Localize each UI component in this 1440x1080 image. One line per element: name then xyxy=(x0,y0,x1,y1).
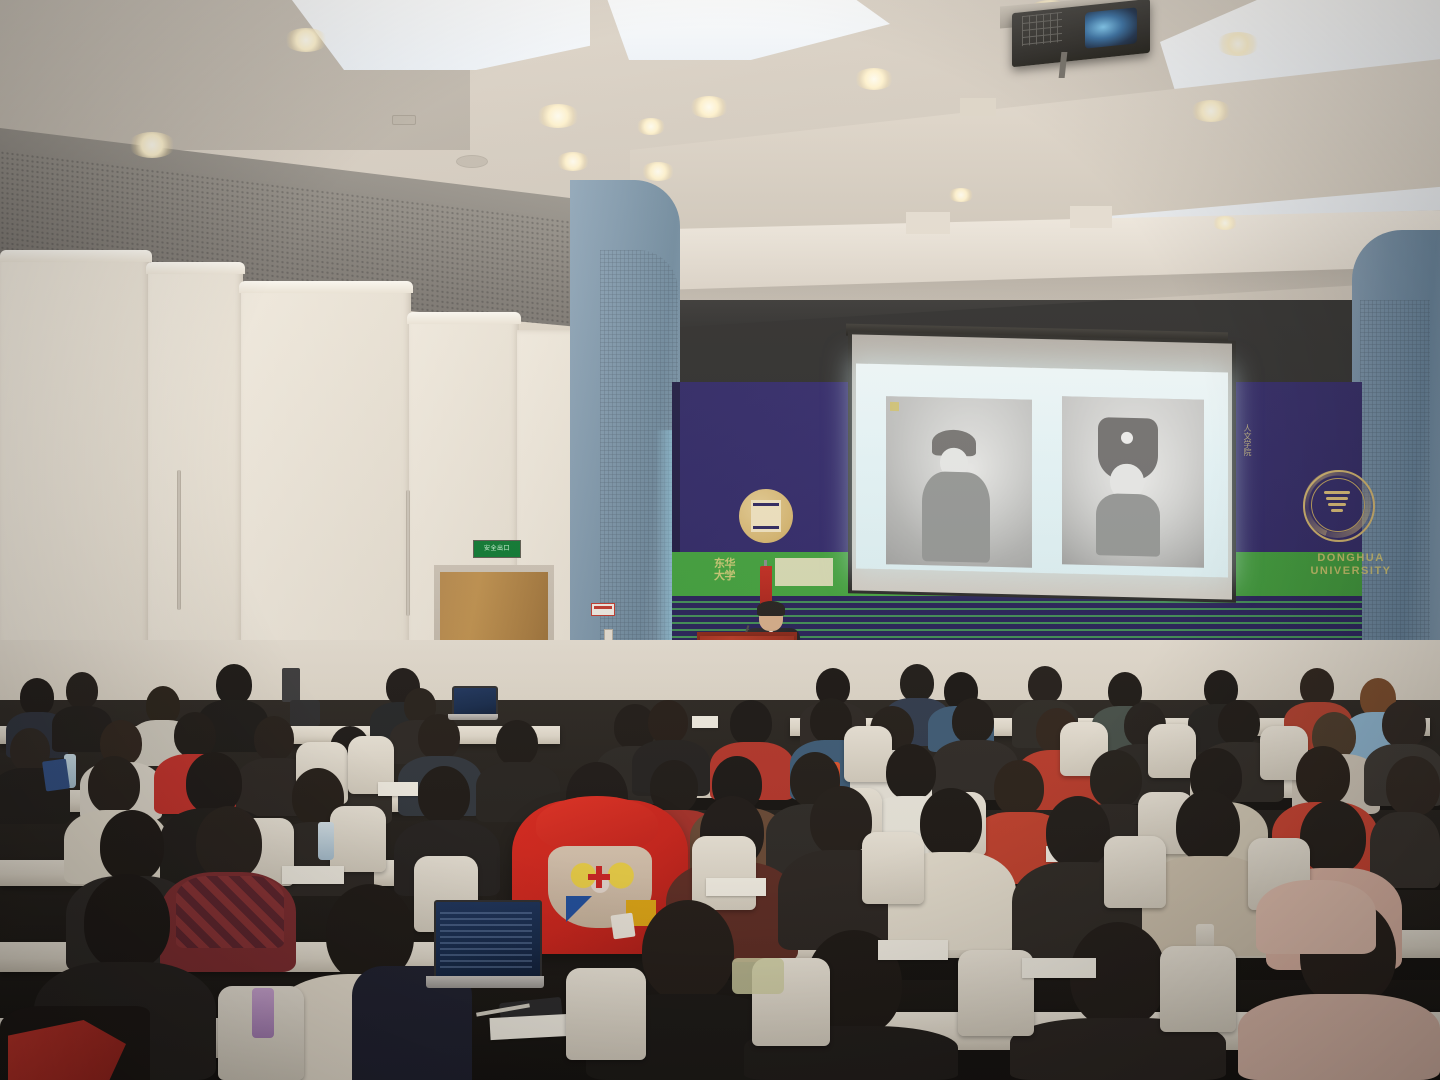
ceiling-vent xyxy=(456,155,488,168)
downlight xyxy=(1190,100,1232,122)
audience-head xyxy=(1386,756,1440,816)
university-name: DONGHUA UNIVERSITY xyxy=(1295,552,1407,578)
audience-head xyxy=(642,900,734,1002)
slide-corner-marker xyxy=(890,402,899,411)
chair xyxy=(692,836,756,910)
audience-head xyxy=(196,806,262,880)
panel-top-edge xyxy=(407,312,521,324)
chair xyxy=(566,968,646,1060)
bag xyxy=(290,700,320,726)
slide-photo-right xyxy=(1062,396,1204,567)
water-bottle xyxy=(318,822,334,860)
wall-notice-sign xyxy=(591,603,615,616)
ceiling-speaker-box xyxy=(1070,206,1112,228)
slide-figure-body xyxy=(1096,493,1160,557)
audience-head xyxy=(100,810,164,882)
notebook xyxy=(1022,958,1096,978)
slide-figure-hat-badge xyxy=(1121,432,1133,444)
panel-top-edge xyxy=(0,250,152,262)
chair xyxy=(1160,946,1236,1032)
downlight xyxy=(948,188,974,202)
audience-head xyxy=(900,664,934,702)
laptop-screen-text xyxy=(440,908,532,970)
audience-head xyxy=(1046,796,1110,868)
chair xyxy=(1104,836,1166,908)
ceiling-speaker-box xyxy=(906,212,950,234)
bag xyxy=(282,668,300,702)
panel-handle[interactable] xyxy=(177,470,181,610)
audience-head xyxy=(66,672,98,709)
audience-head xyxy=(648,700,688,744)
audience-head xyxy=(1028,666,1062,704)
downlight xyxy=(1216,32,1260,56)
paper-sheet xyxy=(692,716,718,728)
audience-head xyxy=(20,678,54,716)
bag xyxy=(732,958,784,994)
tablet-device[interactable] xyxy=(42,758,70,791)
downlight xyxy=(536,104,580,128)
audience-head xyxy=(886,744,936,800)
university-name-line-1: DONGHUA xyxy=(1295,552,1407,565)
audience-head xyxy=(952,698,994,744)
downlight xyxy=(636,118,666,135)
audience-head xyxy=(994,760,1044,816)
puffer-hood xyxy=(1256,880,1376,954)
exit-sign-label: 安全出口 xyxy=(484,546,510,552)
seal-stroke xyxy=(1326,497,1348,500)
projector-vent-grille xyxy=(1022,12,1062,46)
audience-head xyxy=(730,700,772,746)
downlight xyxy=(128,132,176,158)
emblem-bar xyxy=(753,526,779,529)
university-name-line-2: UNIVERSITY xyxy=(1295,565,1407,578)
seal-stroke xyxy=(1331,509,1343,512)
chair xyxy=(844,726,892,782)
downlight xyxy=(556,152,590,171)
exit-sign: 安全出口 xyxy=(473,540,521,558)
speaker-hair xyxy=(757,601,785,616)
downlight xyxy=(1212,216,1238,230)
downlight xyxy=(284,28,328,52)
panel-top-edge xyxy=(239,281,413,293)
plaid-pattern xyxy=(176,876,284,948)
downlight xyxy=(689,96,729,118)
seal-stroke xyxy=(1324,491,1350,494)
notebook xyxy=(878,940,948,960)
acoustic-wall-panel xyxy=(0,256,150,706)
audience-head xyxy=(1090,750,1142,808)
notebook xyxy=(706,878,766,896)
paper-sheet xyxy=(489,1014,570,1040)
ceiling-vent xyxy=(392,115,416,125)
chair xyxy=(862,832,924,904)
audience-head xyxy=(186,752,242,814)
laptop-keyboard[interactable] xyxy=(426,976,544,988)
notebook xyxy=(282,866,344,884)
lecture-hall-photo: 安全出口 东华 大学 DONGHUA UNIVERSITY 人文学院 xyxy=(0,0,1440,1080)
audience-head xyxy=(1382,700,1426,748)
downlight xyxy=(854,68,894,90)
seal-stroke xyxy=(1328,503,1346,506)
panel-handle[interactable] xyxy=(406,490,410,616)
audience-head xyxy=(174,712,216,758)
audience-head xyxy=(84,874,170,970)
audience-head xyxy=(1176,790,1240,862)
crest-cross-bar xyxy=(596,866,602,888)
downlight xyxy=(641,162,675,181)
audience-head xyxy=(418,766,470,824)
audience-head xyxy=(1296,746,1350,806)
audience-head xyxy=(1218,700,1260,746)
audience-head xyxy=(216,664,252,705)
slide-figure-body xyxy=(922,471,990,563)
audience-head xyxy=(418,714,460,760)
emblem-bar xyxy=(753,503,779,506)
pink-puffer-student xyxy=(1238,994,1440,1080)
backdrop-plaque xyxy=(775,558,833,586)
panel-top-edge xyxy=(146,262,245,274)
paper-sheet xyxy=(378,782,418,796)
water-bottle xyxy=(252,988,274,1038)
chair xyxy=(1148,724,1196,778)
hoodie-hood xyxy=(536,796,658,852)
slide-photo-left xyxy=(886,396,1032,568)
ceiling-fixture xyxy=(960,98,996,116)
hoodie-print-tag xyxy=(610,913,635,940)
seal-flame-mark xyxy=(1322,488,1352,520)
projector-lens xyxy=(1085,7,1137,48)
audience-head xyxy=(88,756,140,814)
laptop-base[interactable] xyxy=(448,714,498,720)
book-emblem-page xyxy=(751,500,781,532)
audience-head xyxy=(920,788,982,858)
chair xyxy=(330,806,386,872)
audience-head xyxy=(1300,668,1334,706)
side-banner-text: 人文学院 xyxy=(1240,424,1252,456)
audience-head xyxy=(496,720,538,766)
audience-head xyxy=(254,716,294,761)
